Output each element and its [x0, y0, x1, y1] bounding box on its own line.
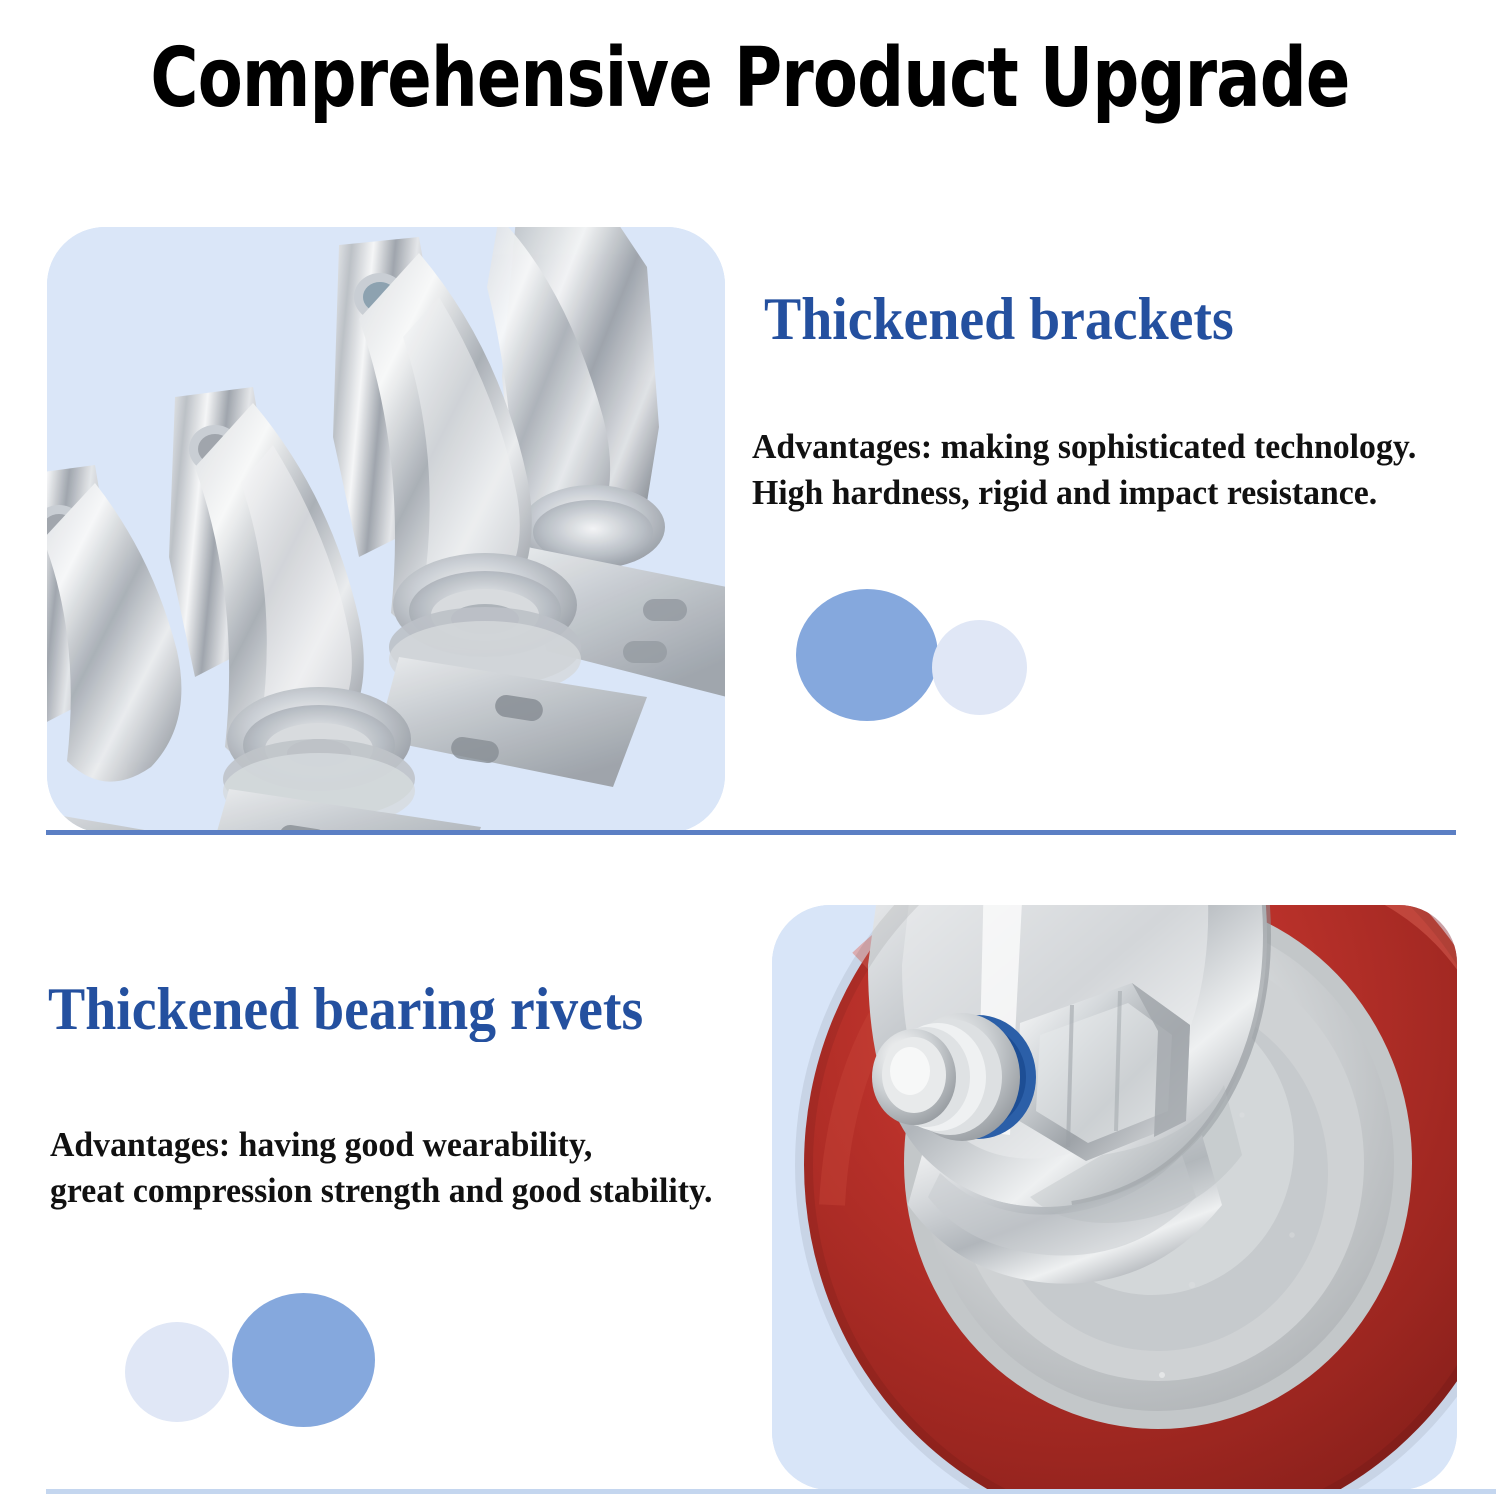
- section-heading-rivets: Thickened bearing rivets: [48, 978, 643, 1041]
- section-divider: [46, 830, 1456, 835]
- red-caster-wheel-illustration: [772, 905, 1457, 1490]
- section-body-brackets: Advantages: making sophisticated technol…: [752, 424, 1416, 515]
- body-line: Advantages: having good wearability,: [50, 1122, 712, 1168]
- decorative-circle-pale: [932, 620, 1027, 715]
- page-title: Comprehensive Product Upgrade: [150, 38, 1350, 120]
- decorative-circle-pale: [125, 1322, 229, 1422]
- photo-panel-brackets: [47, 227, 725, 833]
- section-heading-brackets: Thickened brackets: [764, 288, 1234, 351]
- infographic-page: Comprehensive Product Upgrade: [0, 0, 1500, 1500]
- section-body-rivets: Advantages: having good wearability, gre…: [50, 1122, 712, 1213]
- body-line: High hardness, rigid and impact resistan…: [752, 470, 1416, 516]
- chrome-caster-brackets-illustration: [47, 227, 725, 833]
- body-line: great compression strength and good stab…: [50, 1168, 712, 1214]
- bottom-divider: [46, 1489, 1496, 1494]
- decorative-circle-blue: [796, 589, 938, 721]
- photo-panel-wheel: [772, 905, 1457, 1490]
- body-line: Advantages: making sophisticated technol…: [752, 424, 1416, 470]
- decorative-circle-blue: [232, 1293, 375, 1427]
